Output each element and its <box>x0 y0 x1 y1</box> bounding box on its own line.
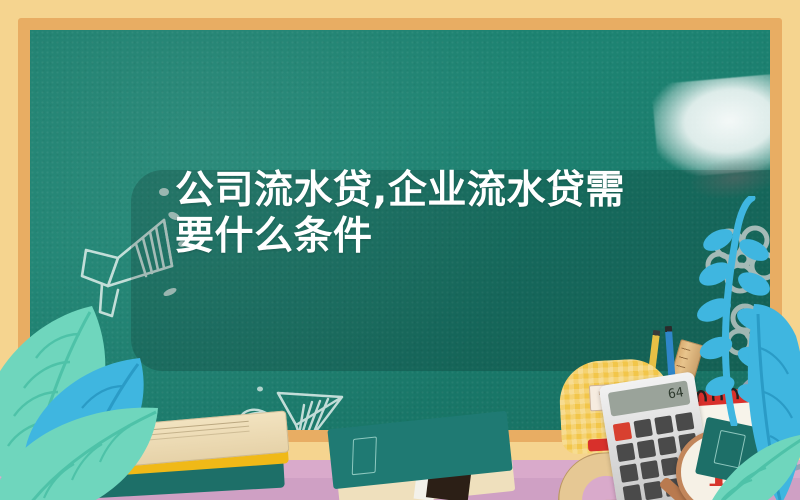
headline-line-2: 要什么条件 <box>175 214 715 260</box>
banner-stage: 公司流水贷,企业流水贷需 要什么条件 Love School <box>0 0 800 500</box>
calculator-key <box>675 412 694 431</box>
calculator-key <box>637 439 656 458</box>
calculator-key <box>613 422 632 441</box>
calculator-key <box>654 415 673 434</box>
calculator-key <box>616 443 635 462</box>
calculator-key <box>619 463 638 482</box>
calculator-key <box>633 419 652 438</box>
page-title: 公司流水贷,企业流水贷需 要什么条件 <box>175 168 715 260</box>
calculator-key <box>658 436 677 455</box>
calculator-key <box>640 460 659 479</box>
calculator-display: 64 <box>608 380 691 416</box>
headline-line-1: 公司流水贷,企业流水贷需 <box>175 168 715 214</box>
calculator-key <box>623 484 642 500</box>
